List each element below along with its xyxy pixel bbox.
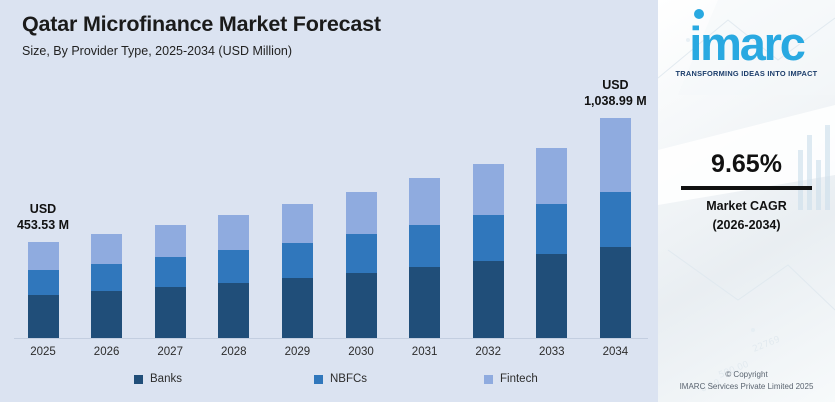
svg-text:22769: 22769: [751, 335, 782, 355]
x-axis-label-2027: 2027: [155, 346, 186, 358]
bar-segment-banks: [346, 273, 377, 338]
bar-segment-banks: [91, 291, 122, 338]
callout-value: 453.53 M: [0, 218, 103, 234]
bar-group-2029[interactable]: 2029: [282, 204, 313, 338]
chart-infographic: Qatar Microfinance Market Forecast Size,…: [0, 0, 835, 402]
legend-swatch-icon: [484, 375, 493, 384]
copyright-notice: © Copyright IMARC Services Private Limit…: [658, 369, 835, 393]
bar-segment-fintech: [600, 118, 631, 192]
bar-segment-nbfcs: [409, 225, 440, 267]
cagr-divider: [681, 186, 812, 190]
bar-segment-fintech: [473, 164, 504, 215]
cagr-period: (2026-2034): [658, 218, 835, 232]
legend-item-banks[interactable]: Banks: [134, 373, 182, 385]
bar-segment-fintech: [91, 234, 122, 264]
x-axis-label-2030: 2030: [346, 346, 377, 358]
x-axis-label-2034: 2034: [600, 346, 631, 358]
cagr-block: 9.65% Market CAGR (2026-2034): [658, 150, 835, 232]
bar-segment-banks: [282, 278, 313, 338]
chart-panel: Qatar Microfinance Market Forecast Size,…: [0, 0, 658, 402]
bar-segment-banks: [155, 287, 186, 338]
bar-segment-fintech: [409, 178, 440, 225]
bar-segment-banks: [28, 295, 59, 338]
bar-segment-nbfcs: [346, 234, 377, 273]
copyright-line-1: © Copyright: [658, 369, 835, 381]
copyright-line-2: IMARC Services Private Limited 2025: [658, 381, 835, 393]
brand-wordmark-text: imarc: [689, 22, 803, 67]
bar-segment-banks: [600, 247, 631, 338]
bar-segment-fintech: [536, 148, 567, 204]
brand-tagline: TRANSFORMING IDEAS INTO IMPACT: [676, 69, 818, 78]
bar-group-2026[interactable]: 2026: [91, 234, 122, 338]
bar-segment-banks: [409, 267, 440, 338]
bar-segment-nbfcs: [473, 215, 504, 261]
bar-segment-fintech: [346, 192, 377, 235]
x-axis-label-2029: 2029: [282, 346, 313, 358]
cagr-label: Market CAGR: [658, 199, 835, 213]
bar-plot-area: 2025USD453.53 M2026202720282029203020312…: [0, 0, 658, 402]
bar-segment-banks: [218, 283, 249, 338]
legend-label: Banks: [150, 373, 182, 385]
bar-segment-nbfcs: [155, 257, 186, 286]
bar-segment-fintech: [218, 215, 249, 251]
callout-currency: USD: [0, 202, 103, 218]
stacked-bar: [91, 234, 122, 338]
stacked-bar: [473, 164, 504, 338]
chart-legend: BanksNBFCsFintech: [14, 371, 648, 391]
bar-group-2028[interactable]: 2028: [218, 215, 249, 338]
bar-segment-nbfcs: [282, 243, 313, 278]
x-axis-label-2028: 2028: [218, 346, 249, 358]
x-axis-label-2026: 2026: [91, 346, 122, 358]
callout-value: 1,038.99 M: [555, 94, 658, 110]
x-axis-label-2031: 2031: [409, 346, 440, 358]
axis-baseline: [14, 338, 648, 339]
stacked-bar: [282, 204, 313, 338]
value-callout-2025: USD453.53 M: [0, 202, 103, 233]
bar-segment-nbfcs: [536, 204, 567, 255]
stacked-bar: [28, 242, 59, 338]
side-panel: 500.00 22769 0.19 imarc TRANSFORMING IDE…: [658, 0, 835, 402]
cagr-value: 9.65%: [658, 150, 835, 179]
bar-segment-nbfcs: [91, 264, 122, 291]
bar-segment-banks: [536, 254, 567, 338]
legend-swatch-icon: [314, 375, 323, 384]
bar-group-2034[interactable]: 2034: [600, 118, 631, 338]
bar-group-2027[interactable]: 2027: [155, 225, 186, 338]
imarc-logo: imarc TRANSFORMING IDEAS INTO IMPACT: [658, 0, 835, 100]
x-axis-label-2033: 2033: [536, 346, 567, 358]
bar-group-2031[interactable]: 2031: [409, 178, 440, 338]
stacked-bar: [600, 118, 631, 338]
stacked-bar: [155, 225, 186, 338]
bar-segment-fintech: [28, 242, 59, 270]
stacked-bar: [218, 215, 249, 338]
stacked-bar: [409, 178, 440, 338]
legend-item-fintech[interactable]: Fintech: [484, 373, 538, 385]
legend-item-nbfcs[interactable]: NBFCs: [314, 373, 367, 385]
stacked-bar: [536, 148, 567, 338]
x-axis-label-2025: 2025: [28, 346, 59, 358]
stacked-bar: [346, 192, 377, 338]
value-callout-2034: USD1,038.99 M: [555, 78, 658, 109]
bar-segment-fintech: [282, 204, 313, 243]
legend-label: NBFCs: [330, 373, 367, 385]
bar-group-2030[interactable]: 2030: [346, 192, 377, 338]
bar-group-2025[interactable]: 2025: [28, 242, 59, 338]
bar-segment-nbfcs: [600, 192, 631, 247]
callout-currency: USD: [555, 78, 658, 94]
bar-segment-banks: [473, 261, 504, 338]
bar-group-2033[interactable]: 2033: [536, 148, 567, 338]
brand-dot-icon: [694, 9, 704, 19]
bar-segment-nbfcs: [218, 250, 249, 282]
x-axis-label-2032: 2032: [473, 346, 504, 358]
bar-segment-nbfcs: [28, 270, 59, 295]
bar-segment-fintech: [155, 225, 186, 258]
legend-label: Fintech: [500, 373, 538, 385]
legend-swatch-icon: [134, 375, 143, 384]
bar-group-2032[interactable]: 2032: [473, 164, 504, 338]
